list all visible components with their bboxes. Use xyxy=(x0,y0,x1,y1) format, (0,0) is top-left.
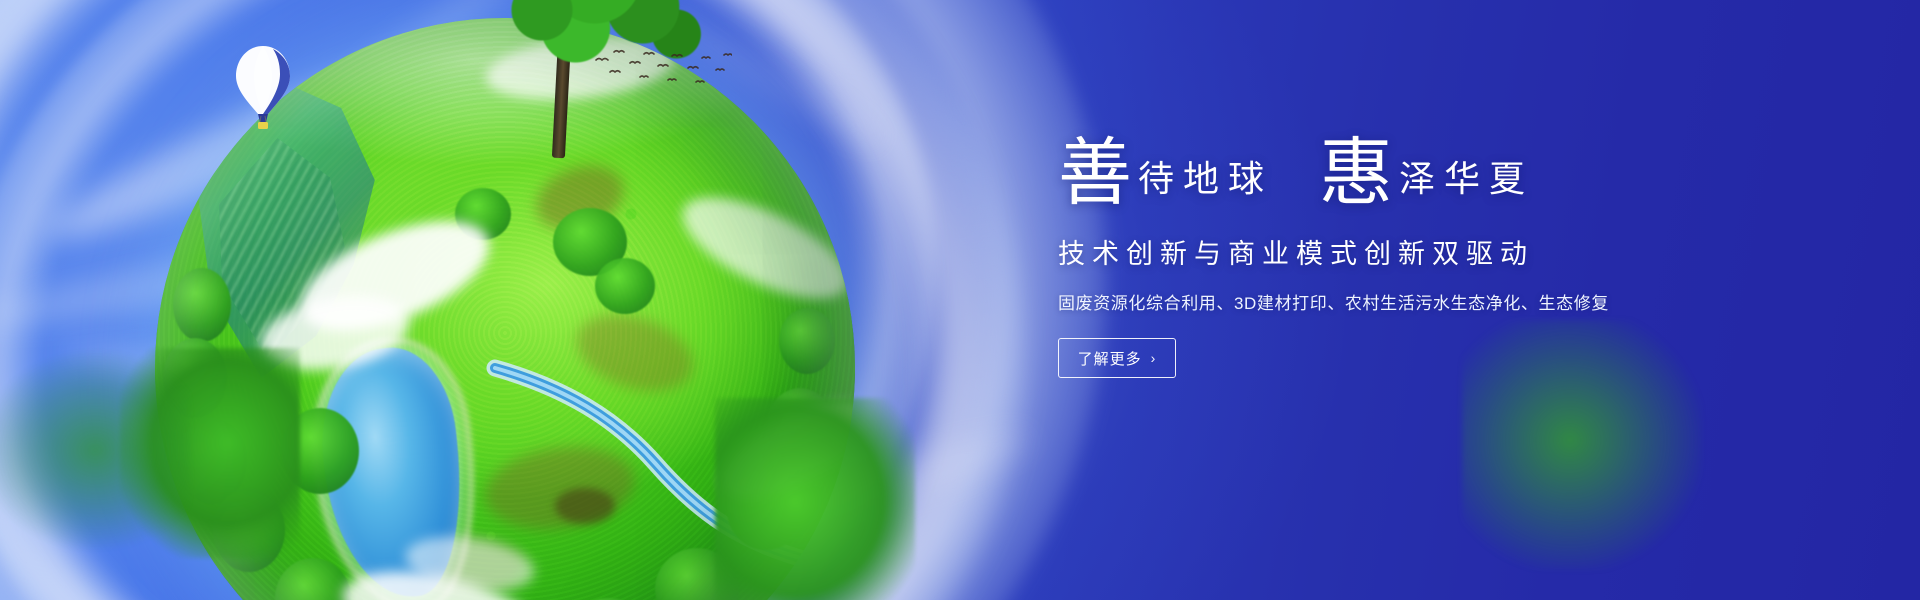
hero-content: 善 待地球 惠 泽华夏 技术创新与商业模式创新双驱动 固废资源化综合利用、3D建… xyxy=(1058,132,1758,378)
hot-air-balloon xyxy=(232,44,294,140)
learn-more-button[interactable]: 了解更多 › xyxy=(1058,338,1176,378)
description: 固废资源化综合利用、3D建材打印、农村生活污水生态净化、生态修复 xyxy=(1058,289,1758,314)
headline: 善 待地球 惠 泽华夏 xyxy=(1058,132,1758,206)
chevron-right-icon: › xyxy=(1151,350,1157,366)
headline-tail-1: 待地球 xyxy=(1138,162,1273,198)
learn-more-label: 了解更多 xyxy=(1078,348,1142,369)
headline-char-1: 善 xyxy=(1058,136,1132,210)
foreground-tree-left xyxy=(0,350,190,550)
right-foreground-bush xyxy=(715,398,915,600)
headline-char-2: 惠 xyxy=(1319,136,1393,210)
headline-tail-2: 泽华夏 xyxy=(1399,162,1534,198)
hero-banner: 善 待地球 惠 泽华夏 技术创新与商业模式创新双驱动 固废资源化综合利用、3D建… xyxy=(0,0,1920,600)
bird-flock xyxy=(592,46,732,92)
subtitle: 技术创新与商业模式创新双驱动 xyxy=(1058,232,1758,271)
